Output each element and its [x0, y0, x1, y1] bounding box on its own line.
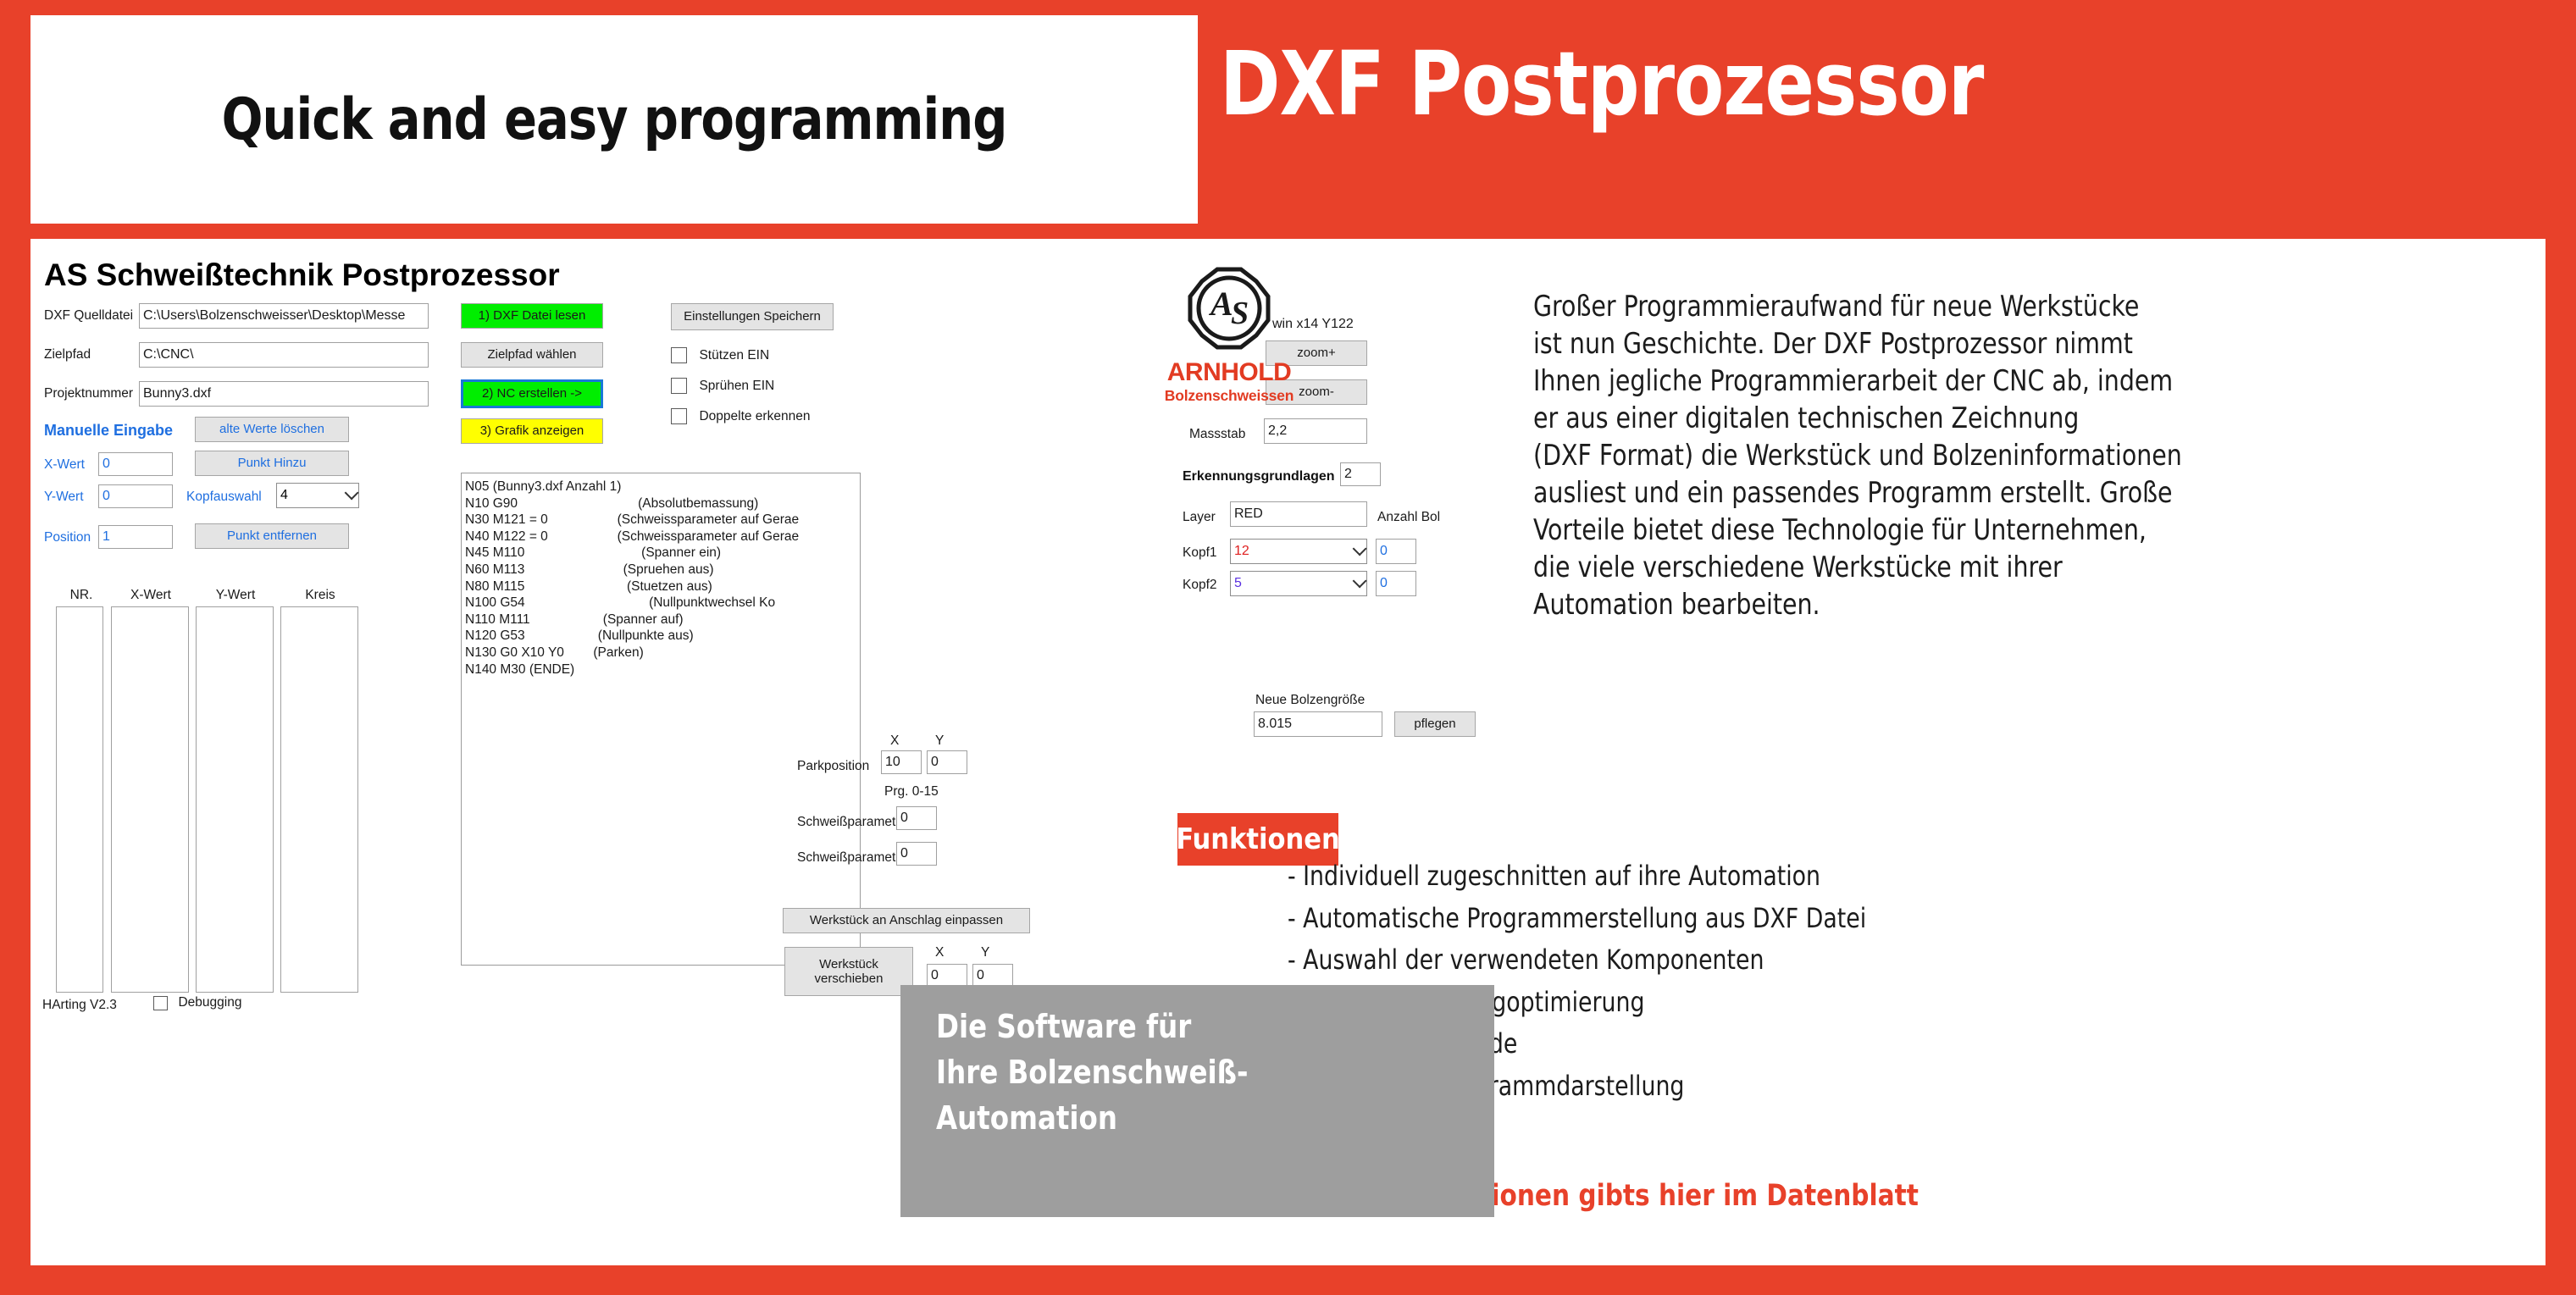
- table-column-y[interactable]: [196, 606, 274, 993]
- target-path-label: Zielpfad: [44, 347, 137, 362]
- nc-code-line: N10 G90 (Absolutbemassung): [462, 495, 860, 512]
- nc-code-line: N120 G53 (Nullpunkte aus): [462, 628, 860, 645]
- park-x-header: X: [890, 733, 899, 749]
- head1-value: 12: [1234, 544, 1249, 559]
- park-y-header: Y: [935, 733, 944, 749]
- checkbox-doppelte[interactable]: Doppelte erkennen: [671, 408, 810, 424]
- head2-label: Kopf2: [1183, 578, 1217, 593]
- head1-dropdown[interactable]: 12: [1230, 539, 1367, 564]
- app-version-label: HArting V2.3: [42, 998, 117, 1013]
- svg-text:S: S: [1231, 296, 1249, 331]
- checkbox-spruehen-label: Sprühen EIN: [699, 379, 774, 393]
- logo-company-tagline: Bolzenschweissen: [1157, 387, 1301, 405]
- header-tagline: Quick and easy programming: [222, 86, 1007, 153]
- target-path-input[interactable]: C:\CNC\: [139, 342, 429, 368]
- recognition-basis-input[interactable]: 2: [1340, 462, 1381, 486]
- move-y-header: Y: [981, 945, 989, 960]
- chevron-down-icon: [1353, 573, 1367, 588]
- table-column-x[interactable]: [111, 606, 189, 993]
- checkbox-box-icon[interactable]: [671, 408, 687, 424]
- nc-code-line: N60 M113 (Spruehen aus): [462, 562, 860, 578]
- maintain-button[interactable]: pflegen: [1394, 711, 1476, 737]
- page-title: DXF Postprozessor: [1220, 32, 1983, 136]
- table-header-nr: NR.: [58, 588, 105, 603]
- position-label: Position: [44, 530, 91, 545]
- company-logo: A S ARNHOLD Bolzenschweissen: [1157, 264, 1301, 404]
- nc-code-line: N80 M115 (Stuetzen aus): [462, 578, 860, 595]
- header-band: Quick and easy programming DXF Postproze…: [0, 0, 2576, 239]
- header-left-panel: Quick and easy programming: [30, 15, 1198, 224]
- scale-input[interactable]: 2,2: [1264, 418, 1367, 444]
- bolt-count-header: Anzahl Bol: [1377, 510, 1440, 525]
- marketing-line: die viele verschiedene Werkstücke mit ih…: [1533, 549, 2462, 586]
- tagline-gray-box: Die Software für Ihre Bolzenschweiß- Aut…: [900, 985, 1494, 1217]
- y-value-input[interactable]: 0: [98, 484, 173, 508]
- marketing-line: ausliest und ein passendes Programm erst…: [1533, 474, 2462, 512]
- nc-code-line: N30 M121 = 0 (Schweissparameter auf Gera…: [462, 512, 860, 529]
- head-select-label: Kopfauswahl: [186, 490, 262, 505]
- weld-param-k2-input[interactable]: 0: [896, 842, 937, 866]
- weld-param-k1-input[interactable]: 0: [896, 806, 937, 830]
- svg-text:A: A: [1208, 285, 1233, 323]
- recognition-basis-label: Erkennungsgrundlagen: [1183, 469, 1335, 484]
- position-input[interactable]: 1: [98, 525, 173, 549]
- show-graphic-button[interactable]: 3) Grafik anzeigen: [461, 418, 603, 444]
- tagline-line: Ihre Bolzenschweiß-: [936, 1049, 1466, 1095]
- add-point-button[interactable]: Punkt Hinzu: [195, 451, 349, 476]
- project-number-input[interactable]: Bunny3.dxf: [139, 381, 429, 407]
- create-nc-button[interactable]: 2) NC erstellen ->: [461, 379, 603, 408]
- project-number-label: Projektnummer: [44, 386, 144, 401]
- head-select-dropdown[interactable]: 4: [276, 483, 359, 508]
- park-position-label: Parkposition: [797, 759, 869, 774]
- clear-old-values-button[interactable]: alte Werte löschen: [195, 417, 349, 442]
- head2-value: 5: [1234, 576, 1242, 591]
- move-x-header: X: [935, 945, 944, 960]
- table-header-y: Y-Wert: [197, 588, 274, 603]
- marketing-line: Vorteile bietet diese Technologie für Un…: [1533, 512, 2462, 549]
- park-x-input[interactable]: 10: [881, 750, 922, 774]
- table-header-x: X-Wert: [112, 588, 190, 603]
- content-panel: AS Schweißtechnik Postprozessor DXF Quel…: [30, 239, 2546, 1265]
- nc-code-line: N110 M111 (Spanner auf): [462, 612, 860, 628]
- layer-label: Layer: [1183, 510, 1216, 525]
- marketing-line: Automation bearbeiten.: [1533, 586, 2462, 623]
- remove-point-button[interactable]: Punkt entfernen: [195, 523, 349, 549]
- checkbox-stuetzen-label: Stützen EIN: [699, 348, 769, 362]
- dxf-source-input[interactable]: C:\Users\Bolzenschweisser\Desktop\Messe: [139, 303, 429, 329]
- dxf-source-label: DXF Quelldatei: [44, 308, 137, 324]
- marketing-line: Ihnen jegliche Programmierarbeit der CNC…: [1533, 362, 2462, 400]
- nc-code-line: N45 M110 (Spanner ein): [462, 545, 860, 562]
- checkbox-debugging-label: Debugging: [178, 995, 241, 1010]
- marketing-line: Großer Programmieraufwand für neue Werks…: [1533, 288, 2462, 325]
- checkbox-stuetzen[interactable]: Stützen EIN: [671, 347, 769, 363]
- nc-code-line: N140 M30 (ENDE): [462, 661, 860, 678]
- marketing-line: (DXF Format) die Werkstück und Bolzeninf…: [1533, 437, 2462, 474]
- table-header-kreis: Kreis: [281, 588, 359, 603]
- fit-workpiece-button[interactable]: Werkstück an Anschlag einpassen: [783, 908, 1030, 933]
- checkbox-doppelte-label: Doppelte erkennen: [699, 409, 810, 423]
- park-y-input[interactable]: 0: [927, 750, 967, 774]
- head1-label: Kopf1: [1183, 545, 1217, 561]
- scale-label: Massstab: [1189, 427, 1245, 442]
- new-bolt-size-input[interactable]: 8.015: [1254, 711, 1382, 737]
- new-bolt-size-label: Neue Bolzengröße: [1255, 693, 1365, 708]
- chevron-down-icon: [345, 485, 359, 500]
- poster-root: Quick and easy programming DXF Postproze…: [0, 0, 2576, 1295]
- table-column-kreis[interactable]: [280, 606, 358, 993]
- marketing-line: ist nun Geschichte. Der DXF Postprozesso…: [1533, 325, 2462, 362]
- read-dxf-button[interactable]: 1) DXF Datei lesen: [461, 303, 603, 329]
- y-value-label: Y-Wert: [44, 490, 84, 505]
- head-select-value: 4: [280, 488, 288, 503]
- layer-input[interactable]: RED: [1230, 501, 1367, 527]
- table-column-nr[interactable]: [56, 606, 103, 993]
- move-x-input[interactable]: 0: [927, 964, 967, 988]
- function-item: - Auswahl der verwendeten Komponenten: [1288, 939, 2453, 982]
- nc-code-line: N05 (Bunny3.dxf Anzahl 1): [462, 479, 860, 495]
- save-settings-button[interactable]: Einstellungen Speichern: [671, 303, 834, 330]
- x-value-label: X-Wert: [44, 457, 85, 473]
- nc-code-listbox[interactable]: N05 (Bunny3.dxf Anzahl 1) N10 G90 (Absol…: [461, 473, 861, 966]
- move-workpiece-button[interactable]: Werkstück verschieben: [784, 947, 913, 996]
- nc-code-line: N100 G54 (Nullpunktwechsel Ko: [462, 595, 860, 612]
- function-item: - Automatische Programmerstellung aus DX…: [1288, 898, 2453, 940]
- head1-count-input[interactable]: 0: [1376, 539, 1416, 564]
- prg-range-header: Prg. 0-15: [884, 784, 939, 800]
- head2-count-input[interactable]: 0: [1376, 571, 1416, 596]
- x-value-input[interactable]: 0: [98, 452, 173, 476]
- marketing-paragraph: Großer Programmieraufwand für neue Werks…: [1533, 288, 2533, 623]
- checkbox-spruehen[interactable]: Sprühen EIN: [671, 378, 774, 394]
- checkbox-debugging[interactable]: Debugging: [153, 995, 241, 1010]
- move-y-input[interactable]: 0: [972, 964, 1013, 988]
- tagline-line: Die Software für: [936, 1004, 1466, 1049]
- checkbox-box-icon[interactable]: [671, 347, 687, 363]
- nc-code-line: N40 M122 = 0 (Schweissparameter auf Gera…: [462, 529, 860, 545]
- manual-entry-heading: Manuelle Eingabe: [44, 422, 173, 440]
- nc-code-line: N130 G0 X10 Y0 (Parken): [462, 645, 860, 661]
- head2-dropdown[interactable]: 5: [1230, 571, 1367, 596]
- function-item: - Individuell zugeschnitten auf ihre Aut…: [1288, 855, 2453, 898]
- app-title: AS Schweißtechnik Postprozessor: [44, 257, 560, 293]
- checkbox-box-icon[interactable]: [671, 378, 687, 394]
- tagline-line: Automation: [936, 1095, 1466, 1141]
- marketing-line: er aus einer digitalen technischen Zeich…: [1533, 400, 2462, 437]
- logo-company-name: ARNHOLD: [1157, 358, 1301, 387]
- choose-target-button[interactable]: Zielpfad wählen: [461, 342, 603, 368]
- as-starburst-icon: A S: [1157, 264, 1301, 359]
- chevron-down-icon: [1353, 541, 1367, 556]
- checkbox-box-icon[interactable]: [153, 996, 168, 1010]
